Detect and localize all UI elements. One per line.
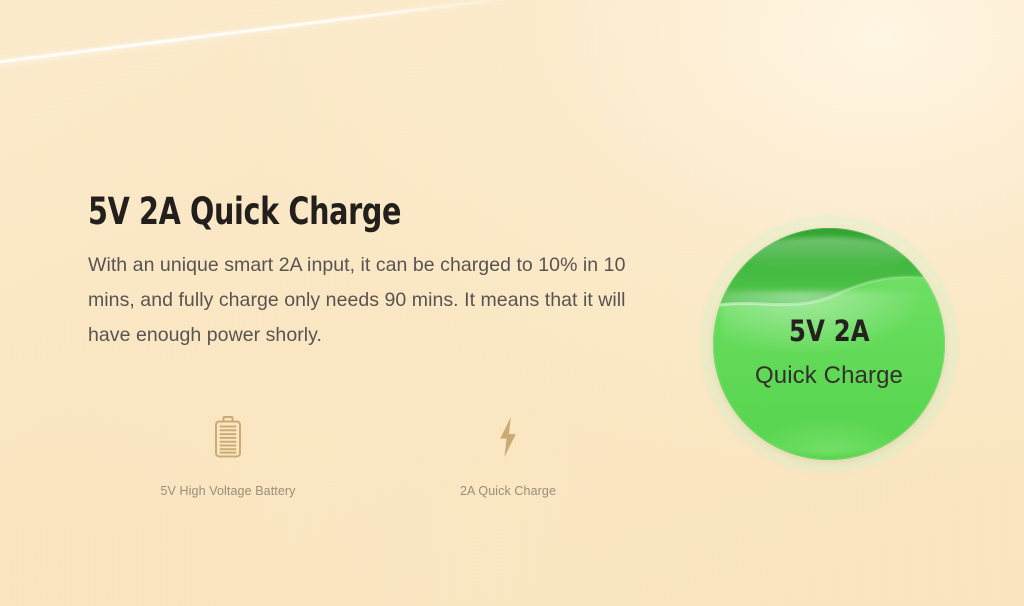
badge-subtitle: Quick Charge	[755, 362, 903, 390]
battery-icon	[213, 410, 243, 464]
diagonal-light-streak	[0, 0, 570, 110]
badge-sphere: 5V 2A Quick Charge	[713, 228, 945, 460]
lightning-bolt-icon	[495, 410, 521, 464]
diagonal-light-streak-glow	[0, 0, 526, 70]
body-paragraph: With an unique smart 2A input, it can be…	[88, 248, 656, 353]
promo-banner: 5V 2A Quick Charge With an unique smart …	[0, 0, 1024, 606]
feature-list: 5V High Voltage Battery 2A Quick Charge	[88, 410, 688, 498]
badge-title: 5V 2A	[789, 314, 870, 348]
copy-block: 5V 2A Quick Charge With an unique smart …	[88, 190, 668, 353]
quick-charge-badge: 5V 2A Quick Charge	[700, 215, 958, 473]
page-title: 5V 2A Quick Charge	[88, 190, 587, 234]
feature-label-battery: 5V High Voltage Battery	[160, 484, 295, 498]
diagonal-light-streak-core	[0, 0, 526, 67]
feature-label-quick-charge: 2A Quick Charge	[460, 484, 556, 498]
feature-item-battery: 5V High Voltage Battery	[88, 410, 368, 498]
badge-text-group: 5V 2A Quick Charge	[713, 228, 945, 460]
feature-item-quick-charge: 2A Quick Charge	[368, 410, 648, 498]
